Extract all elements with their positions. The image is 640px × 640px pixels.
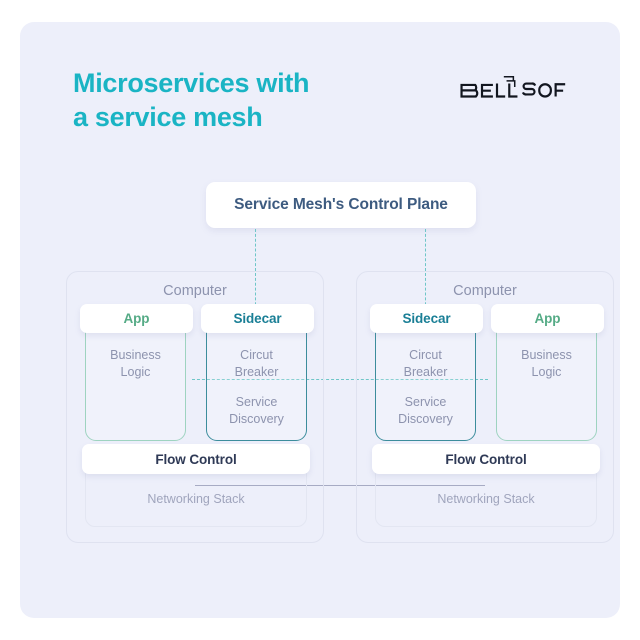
computer-left-label: Computer [67, 283, 323, 299]
service-item: Circut Breaker [207, 347, 306, 381]
service-chip-label-sidecar-left: Sidecar [233, 311, 281, 326]
service-items-app-left: Business Logic [86, 347, 185, 381]
service-items-sidecar-left: Circut Breaker Service Discovery [207, 347, 306, 428]
service-item: Service Discovery [207, 394, 306, 428]
computer-right-label: Computer [357, 283, 613, 299]
flow-control-label-right: Flow Control [445, 452, 526, 467]
control-plane-label: Service Mesh's Control Plane [234, 196, 448, 214]
flow-control-chip-left[interactable]: Flow Control [82, 444, 310, 474]
networking-stack-right: Flow Control Networking Stack [375, 457, 597, 527]
service-box-app-right[interactable]: App Business Logic [496, 315, 597, 441]
computer-right: Computer Sidecar Circut Breaker Service … [356, 271, 614, 543]
control-plane-box[interactable]: Service Mesh's Control Plane [206, 182, 476, 228]
service-chip-label-sidecar-right: Sidecar [402, 311, 450, 326]
computer-left: Computer App Business Logic Sidecar Circ… [66, 271, 324, 543]
service-chip-label-app-right: App [535, 311, 561, 326]
diagram-canvas: Microservices with a service mesh [0, 0, 640, 640]
page-title-line-1: Microservices with [73, 66, 433, 100]
diagram-panel: Microservices with a service mesh [20, 22, 620, 618]
page-title-line-2: a service mesh [73, 100, 433, 134]
service-box-sidecar-left[interactable]: Sidecar Circut Breaker Service Discovery [206, 315, 307, 441]
service-item: Service Discovery [376, 394, 475, 428]
service-chip-sidecar-right: Sidecar [370, 304, 483, 333]
service-chip-label-app-left: App [124, 311, 150, 326]
service-box-sidecar-right[interactable]: Sidecar Circut Breaker Service Discovery [375, 315, 476, 441]
networking-stack-label-right: Networking Stack [376, 492, 596, 506]
service-chip-app-right: App [491, 304, 604, 333]
bellsoft-logo [456, 74, 568, 104]
flow-control-chip-right[interactable]: Flow Control [372, 444, 600, 474]
service-item: Business Logic [497, 347, 596, 381]
service-items-sidecar-right: Circut Breaker Service Discovery [376, 347, 475, 428]
service-item: Business Logic [86, 347, 185, 381]
service-items-app-right: Business Logic [497, 347, 596, 381]
service-chip-app-left: App [80, 304, 193, 333]
networking-stack-left: Flow Control Networking Stack [85, 457, 307, 527]
flow-control-label-left: Flow Control [155, 452, 236, 467]
networking-stack-label-left: Networking Stack [86, 492, 306, 506]
service-chip-sidecar-left: Sidecar [201, 304, 314, 333]
service-box-app-left[interactable]: App Business Logic [85, 315, 186, 441]
service-item: Circut Breaker [376, 347, 475, 381]
page-title: Microservices with a service mesh [73, 66, 433, 134]
